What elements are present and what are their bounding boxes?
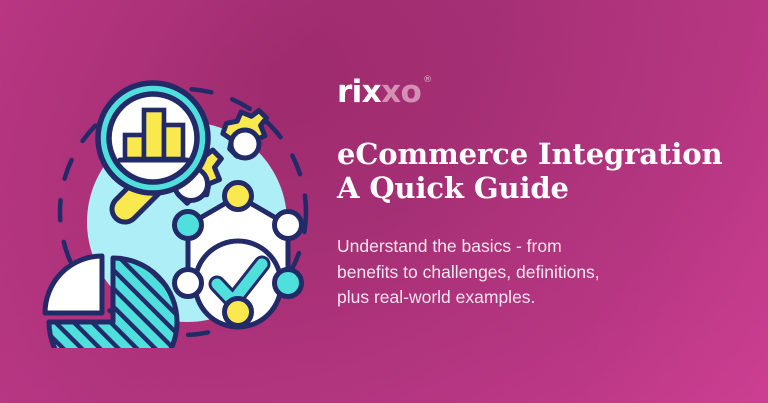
logo-wordmark: rixxo [337, 77, 421, 108]
page-title-line-1: eCommerce Integration [337, 138, 737, 172]
page-title: eCommerce Integration A Quick Guide [337, 138, 737, 205]
network-node-top [225, 183, 252, 210]
rixxo-logo[interactable]: rixxo ® [337, 74, 432, 108]
gear-icon-small [223, 111, 267, 159]
page-subtitle-line-1: Understand the basics - from [337, 234, 717, 260]
registered-mark-icon: ® [423, 76, 432, 85]
network-node-upper-left [175, 212, 202, 239]
page-subtitle-line-2: benefits to challenges, definitions, [337, 260, 717, 286]
content-column: rixxo ® eCommerce Integration A Quick Gu… [337, 0, 737, 403]
promo-banner: rixxo ® eCommerce Integration A Quick Gu… [0, 0, 768, 403]
page-subtitle-line-3: plus real-world examples. [337, 285, 717, 311]
network-node-bottom [225, 299, 252, 326]
analytics-integration-illustration [42, 72, 324, 348]
logo-wordmark-primary: rix [337, 74, 381, 110]
page-title-line-2: A Quick Guide [337, 172, 737, 206]
logo-wordmark-dim: xo [381, 74, 421, 110]
network-node-lower-left [175, 270, 202, 297]
network-node-upper-right [275, 212, 302, 239]
network-node-lower-right [275, 270, 302, 297]
page-subtitle: Understand the basics - from benefits to… [337, 234, 717, 311]
